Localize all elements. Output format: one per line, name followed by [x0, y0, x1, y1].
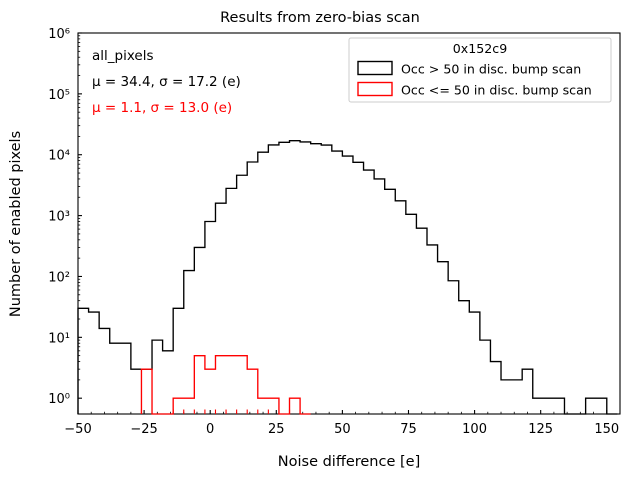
annotation-line-2: μ = 34.4, σ = 17.2 (e): [92, 74, 241, 90]
x-tick-label: 75: [400, 422, 417, 437]
y-tick-label: 10³: [48, 210, 70, 225]
x-tick-label: −25: [130, 422, 157, 437]
histogram-figure: Results from zero-bias scan Number of en…: [0, 0, 640, 480]
y-tick-label: 10⁰: [48, 392, 70, 407]
legend-title: 0x152c9: [453, 41, 507, 56]
x-tick-label: 50: [334, 422, 351, 437]
y-axis-label: Number of enabled pixels: [8, 131, 24, 317]
y-tick-label: 10⁶: [48, 27, 70, 42]
x-tick-label: 100: [462, 422, 487, 437]
x-axis-label: Noise difference [e]: [278, 454, 420, 470]
page-title: Results from zero-bias scan: [220, 10, 420, 26]
y-tick-label: 10⁴: [48, 149, 70, 164]
x-tick-label: 125: [528, 422, 553, 437]
annotation-line-3: μ = 1.1, σ = 13.0 (e): [92, 100, 232, 116]
legend-entry-label-1: Occ > 50 in disc. bump scan: [401, 62, 581, 77]
x-tick-label: 25: [268, 422, 285, 437]
y-tick-label: 10¹: [48, 331, 70, 346]
annotation-line-1: all_pixels: [92, 48, 154, 64]
legend-entry-label-2: Occ <= 50 in disc. bump scan: [401, 83, 592, 98]
x-tick-label: −50: [64, 422, 91, 437]
x-tick-label: 150: [594, 422, 619, 437]
x-tick-label: 0: [206, 422, 214, 437]
chart-legend: 0x152c9Occ > 50 in disc. bump scanOcc <=…: [349, 38, 611, 102]
y-tick-label: 10²: [48, 270, 70, 285]
y-tick-label: 10⁵: [48, 88, 70, 103]
